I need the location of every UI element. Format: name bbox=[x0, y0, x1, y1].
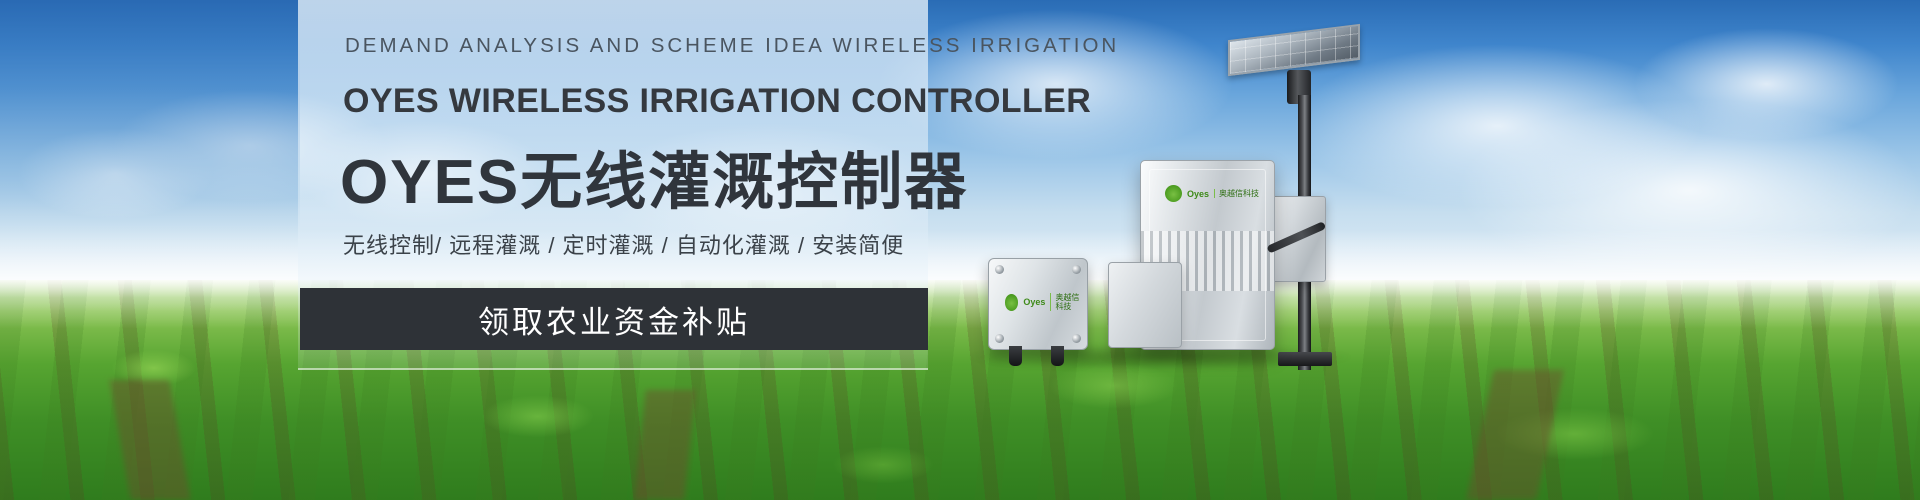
brand-logo: Oyes 奥越信科技 bbox=[1165, 185, 1259, 202]
product-photo-group: Oyes 奥越信科技 Oyes 奥越信科技 bbox=[960, 0, 1460, 500]
screw-icon bbox=[1072, 265, 1081, 274]
solar-panel bbox=[1228, 24, 1360, 76]
cable-gland bbox=[1009, 346, 1022, 366]
brand-cn-label: 奥越信科技 bbox=[1214, 189, 1259, 198]
cta-label: 领取农业资金补贴 bbox=[478, 297, 750, 342]
cta-bar[interactable]: 领取农业资金补贴 bbox=[300, 288, 928, 350]
sky-left-gradient bbox=[0, 0, 300, 230]
brand-latin-label: Oyes bbox=[1023, 297, 1045, 307]
oyes-logo-icon bbox=[1005, 294, 1018, 311]
screw-icon bbox=[995, 265, 1004, 274]
sensor-faceplate bbox=[1108, 262, 1182, 348]
oyes-logo-icon bbox=[1165, 185, 1182, 202]
screw-icon bbox=[1072, 334, 1081, 343]
sensor-junction-box: Oyes 奥越信科技 bbox=[988, 258, 1088, 350]
cable-gland bbox=[1051, 346, 1064, 366]
feature-list: 无线控制/ 远程灌溉 / 定时灌溉 / 自动化灌溉 / 安装简便 bbox=[343, 228, 904, 260]
panel-divider bbox=[298, 368, 928, 370]
brand-cn-label: 奥越信科技 bbox=[1050, 293, 1087, 311]
page-title: OYES无线灌溉控制器 bbox=[340, 131, 968, 221]
screw-icon bbox=[995, 334, 1004, 343]
brand-latin-label: Oyes bbox=[1187, 189, 1209, 199]
pole-base bbox=[1278, 352, 1332, 366]
brand-logo: Oyes 奥越信科技 bbox=[1005, 293, 1087, 311]
promo-banner: DEMAND ANALYSIS AND SCHEME IDEA WIRELESS… bbox=[0, 0, 1920, 500]
